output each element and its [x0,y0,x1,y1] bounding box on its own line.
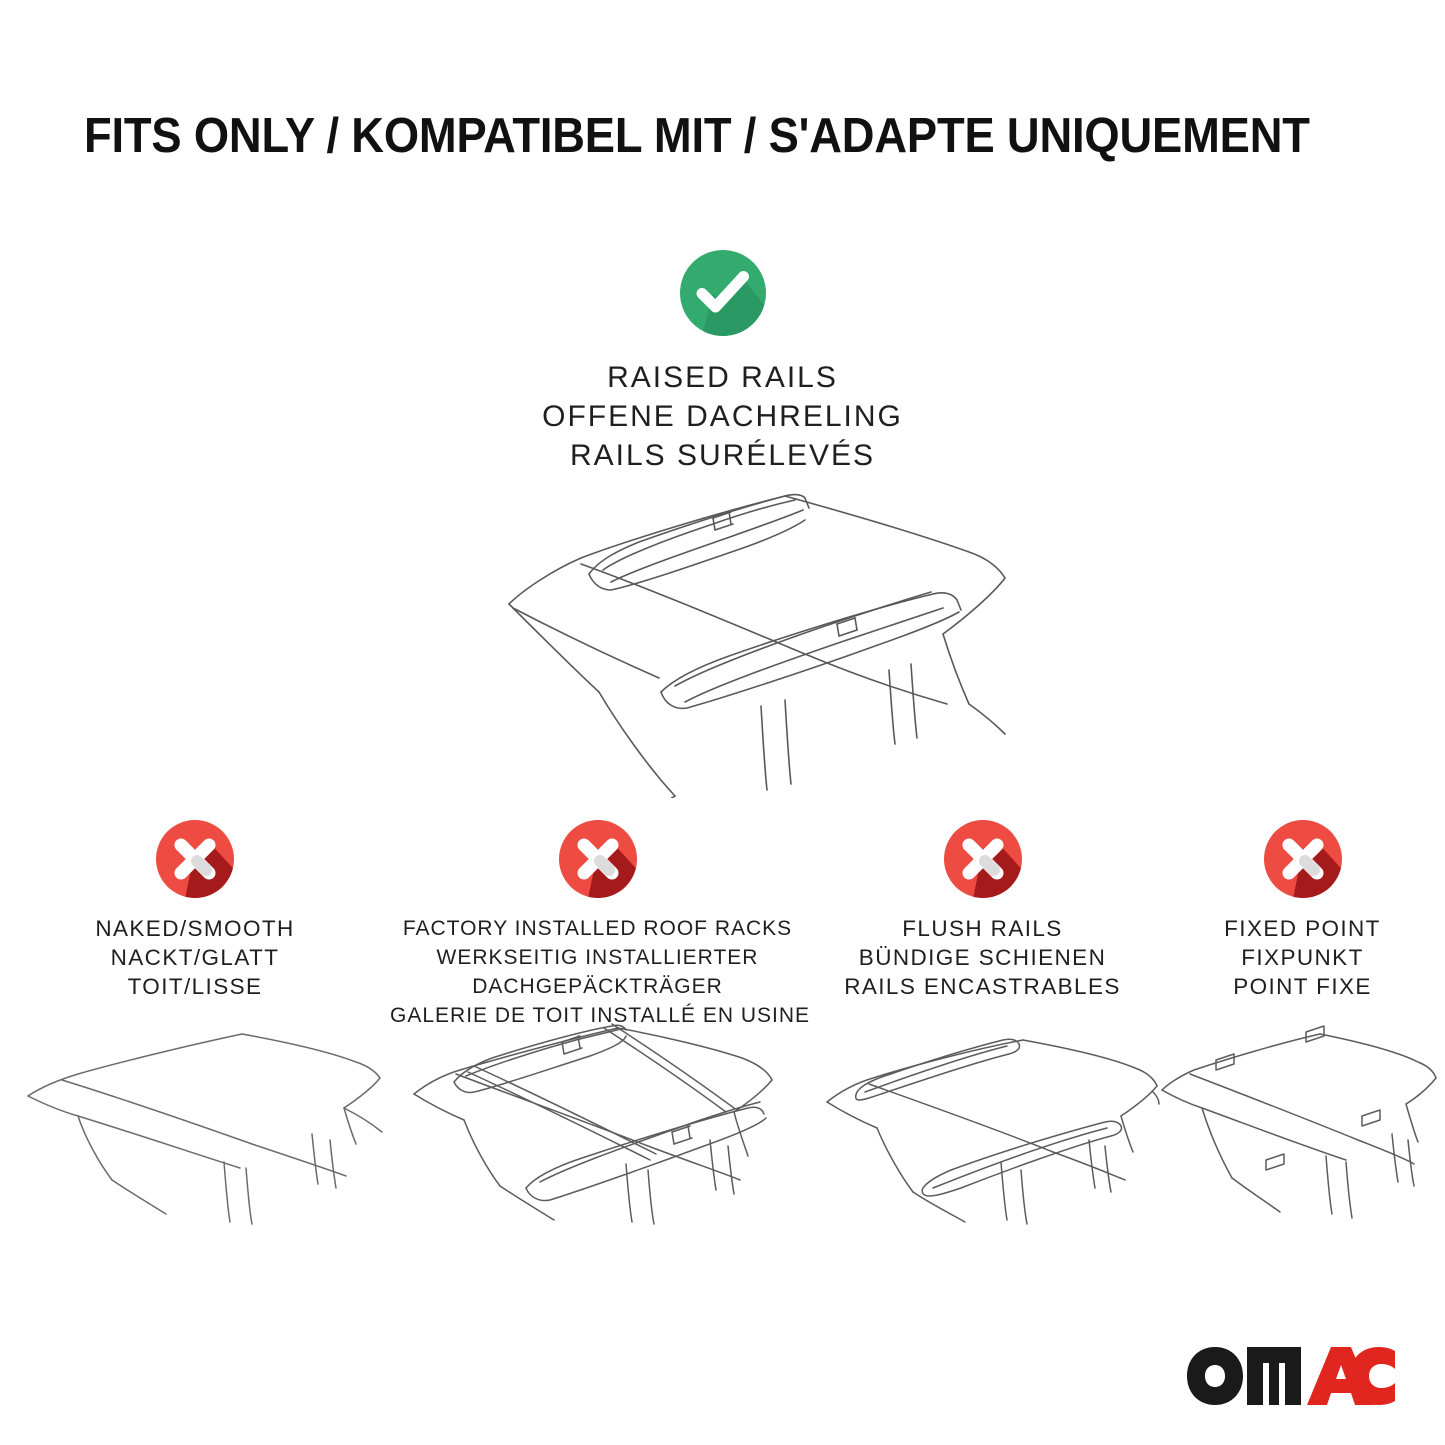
incompatible-illustrations-row [0,1012,1445,1232]
x-circle-icon [942,818,1024,900]
omac-logo: OMAC [1185,1345,1397,1407]
car-roof-raised-rails-illustration [0,478,1445,808]
car-roof-factory-racks-illustration [390,1012,805,1232]
x-circle-icon [557,818,639,900]
option-caption-fixed-point: FIXED POINT FIXPUNKT POINT FIXE [1160,914,1445,1001]
compatible-section: RAISED RAILS OFFENE DACHRELING RAILS SUR… [0,248,1445,475]
x-circle-icon [1262,818,1344,900]
option-fixed-point: FIXED POINT FIXPUNKT POINT FIXE [1160,818,1445,1001]
option-line-en: FACTORY INSTALLED ROOF RACKS [390,914,805,943]
page-title: FITS ONLY / KOMPATIBEL MIT / S'ADAPTE UN… [84,107,1277,165]
car-roof-naked-illustration [0,1012,390,1232]
check-circle-icon [678,248,768,338]
car-roof-flush-rails-illustration [805,1012,1160,1232]
compatible-line-de: OFFENE DACHRELING [0,397,1445,436]
option-naked-smooth: NAKED/SMOOTH NACKT/GLATT TOIT/LISSE [0,818,390,1001]
x-circle-icon [154,818,236,900]
option-line-de-2: DACHGEPÄCKTRÄGER [390,972,805,1001]
option-flush-rails: FLUSH RAILS BÜNDIGE SCHIENEN RAILS ENCAS… [805,818,1160,1001]
option-line-en: FIXED POINT [1160,914,1445,943]
compatible-line-en: RAISED RAILS [0,358,1445,397]
option-line-fr: TOIT/LISSE [0,972,390,1001]
option-line-en: FLUSH RAILS [805,914,1160,943]
option-factory-roof-racks: FACTORY INSTALLED ROOF RACKS WERKSEITIG … [390,818,805,1030]
option-line-fr: RAILS ENCASTRABLES [805,972,1160,1001]
incompatible-options-row: NAKED/SMOOTH NACKT/GLATT TOIT/LISSE FACT… [0,818,1445,1030]
option-line-de-1: WERKSEITIG INSTALLIERTER [390,943,805,972]
option-line-de: BÜNDIGE SCHIENEN [805,943,1160,972]
car-roof-fixed-point-illustration [1160,1012,1445,1232]
option-line-de: FIXPUNKT [1160,943,1445,972]
compatible-line-fr: RAILS SURÉLEVÉS [0,436,1445,475]
option-line-de: NACKT/GLATT [0,943,390,972]
option-line-fr: POINT FIXE [1160,972,1445,1001]
compatible-caption: RAISED RAILS OFFENE DACHRELING RAILS SUR… [0,358,1445,475]
option-caption-flush-rails: FLUSH RAILS BÜNDIGE SCHIENEN RAILS ENCAS… [805,914,1160,1001]
option-line-en: NAKED/SMOOTH [0,914,390,943]
option-caption-naked-smooth: NAKED/SMOOTH NACKT/GLATT TOIT/LISSE [0,914,390,1001]
